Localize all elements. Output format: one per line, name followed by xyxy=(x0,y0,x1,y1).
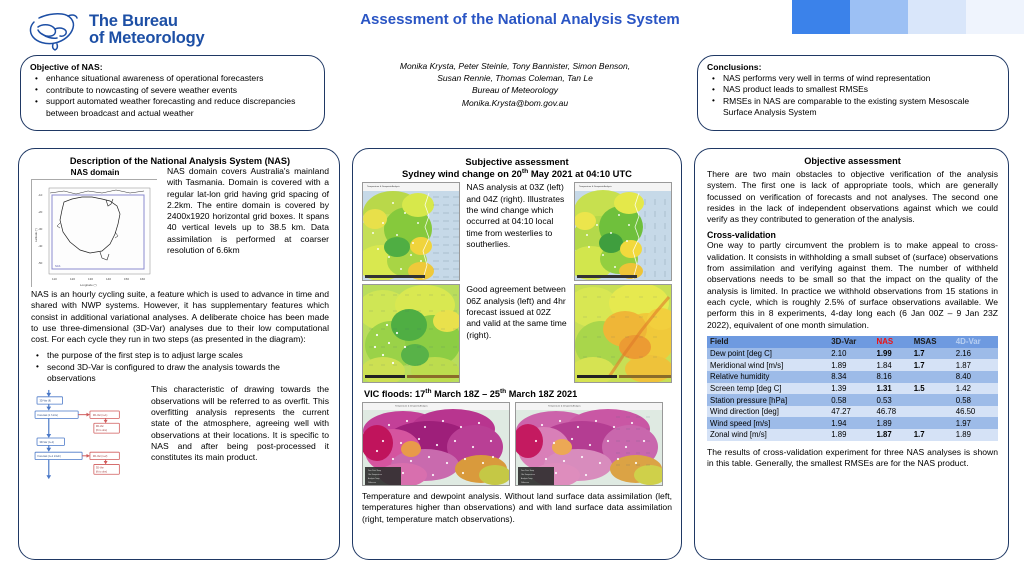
author-block: Monika Krysta, Peter Steinle, Tony Banni… xyxy=(345,60,685,109)
svg-text:Analysis Temp: Analysis Temp xyxy=(368,477,380,480)
sydney-analysis-03z-image: Temperature & Dewpoint Analysis xyxy=(362,182,460,281)
cell-field: Zonal wind [m/s] xyxy=(707,429,828,441)
table-row: Meridional wind [m/s]1.891.841.71.87 xyxy=(707,359,998,371)
table-row: Screen temp [deg C]1.391.311.51.42 xyxy=(707,383,998,395)
objective-heading: Objective of NAS: xyxy=(30,62,315,72)
th-msas: MSAS xyxy=(911,336,953,348)
svg-text:Difference: Difference xyxy=(368,482,376,484)
vic-title-mid: March 18Z – 25 xyxy=(432,389,500,399)
australia-domain-plot: NAS -10-20-30 -40-50 110120130 140150160… xyxy=(32,180,158,288)
svg-text:Dew Point Temp: Dew Point Temp xyxy=(368,469,381,472)
svg-text:(fit to obs): (fit to obs) xyxy=(96,471,107,474)
sydney-03z-svg: Temperature & Dewpoint Analysis xyxy=(363,183,460,281)
svg-text:-50: -50 xyxy=(38,261,43,265)
svg-text:Analysis Temp: Analysis Temp xyxy=(521,477,533,480)
rmse-table-wrap: Field 3D-Var NAS MSAS 4D-Var Dew point [… xyxy=(707,336,998,441)
cross-validation-heading: Cross-validation xyxy=(707,230,998,240)
sydney-analysis-04z-image: Temperature & Dewpoint Analysis xyxy=(574,182,672,281)
svg-text:Forecast (n+1 ints/n): Forecast (n+1 ints/n) xyxy=(38,455,61,458)
sydney-wind-subtitle: Sydney wind change on 20th May 2021 at 0… xyxy=(362,168,672,179)
author-line-2: Susan Rennie, Thomas Coleman, Tan Le xyxy=(345,72,685,84)
cell-field: Relative humidity xyxy=(707,371,828,383)
svg-text:140: 140 xyxy=(106,277,111,281)
svg-text:-30: -30 xyxy=(38,227,43,231)
cell-msas xyxy=(911,394,953,406)
cell-msas: 1.7 xyxy=(911,348,953,360)
color-swatch-strip xyxy=(792,0,1024,34)
cell-msas xyxy=(911,371,953,383)
cell-field: Screen temp [deg C] xyxy=(707,383,828,395)
th-4dvar: 4D-Var xyxy=(953,336,998,348)
sydney-04z-svg: Temperature & Dewpoint Analysis xyxy=(575,183,672,281)
svg-text:Latitude (°): Latitude (°) xyxy=(34,228,38,242)
cell-4dvar: 1.89 xyxy=(953,429,998,441)
cell-nas: 0.53 xyxy=(874,394,911,406)
cell-nas: 8.16 xyxy=(874,371,911,383)
cell-nas: 1.89 xyxy=(874,417,911,429)
obstacles-paragraph: There are two main obstacles to objectiv… xyxy=(707,169,998,225)
svg-text:3D-Var: 3D-Var xyxy=(96,467,104,470)
cell-field: Wind direction [deg] xyxy=(707,406,828,418)
cell-msas xyxy=(911,406,953,418)
svg-text:160: 160 xyxy=(140,277,145,281)
cell-3dvar: 1.89 xyxy=(828,429,873,441)
swatch-2 xyxy=(850,0,908,34)
svg-text:Obs Temperature: Obs Temperature xyxy=(368,473,382,476)
conclusions-item: NAS product leads to smallest RMSEs xyxy=(707,84,999,95)
cell-3dvar: 1.39 xyxy=(828,383,873,395)
table-header-row: Field 3D-Var NAS MSAS 4D-Var xyxy=(707,336,998,348)
analysis-06z-image xyxy=(362,284,460,383)
table-row: Station pressure [hPa]0.580.530.58 xyxy=(707,394,998,406)
description-title: Description of the National Analysis Sys… xyxy=(31,156,329,166)
objective-list: enhance situational awareness of operati… xyxy=(30,73,315,119)
logo-text: The Bureau of Meteorology xyxy=(89,13,204,48)
forecast-4hr-image xyxy=(574,284,672,383)
bom-logo: The Bureau of Meteorology xyxy=(24,8,204,52)
author-email: Monika.Krysta@bom.gov.au xyxy=(345,97,685,109)
th-field: Field xyxy=(707,336,828,348)
cell-3dvar: 2.10 xyxy=(828,348,873,360)
vic-row-2: Good agreement between 06Z analysis (lef… xyxy=(362,284,672,383)
swatch-4 xyxy=(966,0,1024,34)
svg-text:150: 150 xyxy=(124,277,129,281)
author-affiliation: Bureau of Meteorology xyxy=(345,84,685,96)
rmse-table: Field 3D-Var NAS MSAS 4D-Var Dew point [… xyxy=(707,336,998,441)
cell-3dvar: 8.34 xyxy=(828,371,873,383)
table-row: Zonal wind [m/s]1.891.871.71.89 xyxy=(707,429,998,441)
sydney-title-post: May 2021 at 04:10 UTC xyxy=(528,168,632,179)
svg-text:-10: -10 xyxy=(38,193,43,197)
logo-line-1: The Bureau xyxy=(89,13,204,30)
svg-text:Dew Point Temp: Dew Point Temp xyxy=(521,469,534,472)
th-nas: NAS xyxy=(874,336,911,348)
poster-canvas: The Bureau of Meteorology Assessment of … xyxy=(0,0,1024,576)
cell-4dvar: 2.16 xyxy=(953,348,998,360)
swatch-3 xyxy=(908,0,966,34)
svg-text:3D-Var (fl): 3D-Var (fl) xyxy=(39,400,51,403)
analysis-06z-svg xyxy=(363,285,460,383)
cell-4dvar: 1.87 xyxy=(953,359,998,371)
svg-text:Difference: Difference xyxy=(521,482,529,484)
objective-assessment-title: Objective assessment xyxy=(707,156,998,166)
cell-nas: 46.78 xyxy=(874,406,911,418)
sydney-row-1: Temperature & Dewpoint Analysis xyxy=(362,182,672,281)
cycle-step-item: the purpose of the first step is to adju… xyxy=(31,350,329,361)
cell-msas: 1.5 xyxy=(911,383,953,395)
cell-nas: 1.99 xyxy=(874,348,911,360)
vic-floods-title: VIC floods: 17th March 18Z – 25th March … xyxy=(364,388,672,399)
svg-text:-40: -40 xyxy=(38,244,43,248)
flood-with-lsda-svg: Temperature & Dewpoint Analysis xyxy=(516,403,663,486)
cell-4dvar: 1.42 xyxy=(953,383,998,395)
cell-4dvar: 0.58 xyxy=(953,394,998,406)
svg-text:NAS: NAS xyxy=(55,264,61,268)
forecast-4hr-svg xyxy=(575,285,672,383)
svg-text:3D-Var (n+1): 3D-Var (n+1) xyxy=(39,441,54,444)
cell-4dvar: 1.97 xyxy=(953,417,998,429)
objective-item: contribute to nowcasting of severe weath… xyxy=(30,85,315,97)
swatch-1 xyxy=(792,0,850,34)
cell-field: Meridional wind [m/s] xyxy=(707,359,828,371)
svg-text:110: 110 xyxy=(52,277,57,281)
cell-nas: 1.87 xyxy=(874,429,911,441)
cell-3dvar: 1.94 xyxy=(828,417,873,429)
flood-with-lsda-image: Temperature & Dewpoint Analysis xyxy=(515,402,663,486)
objective-box: Objective of NAS: enhance situational aw… xyxy=(20,55,325,131)
svg-text:Temperature & Dewpoint Analysi: Temperature & Dewpoint Analysis xyxy=(395,405,429,408)
conclusions-item: NAS performs very well in terms of wind … xyxy=(707,73,999,84)
table-row: Wind direction [deg]47.2746.7846.50 xyxy=(707,406,998,418)
cell-nas: 1.84 xyxy=(874,359,911,371)
results-paragraph: The results of cross-validation experime… xyxy=(707,447,998,470)
table-row: Relative humidity8.348.168.40 xyxy=(707,371,998,383)
cell-4dvar: 46.50 xyxy=(953,406,998,418)
objective-assessment-panel: Objective assessment There are two main … xyxy=(694,148,1009,560)
sydney-text-block: NAS analysis at 03Z (left) and 04Z (righ… xyxy=(466,182,567,250)
vic-title-pre: VIC floods: 17 xyxy=(364,389,425,399)
objective-item: enhance situational awareness of operati… xyxy=(30,73,315,85)
rmse-table-body: Dew point [deg C]2.101.991.72.16Meridion… xyxy=(707,348,998,441)
conclusions-heading: Conclusions: xyxy=(707,62,999,72)
cell-msas xyxy=(911,417,953,429)
table-row: Wind speed [m/s]1.941.891.97 xyxy=(707,417,998,429)
cell-field: Station pressure [hPa] xyxy=(707,394,828,406)
sydney-title-pre: Sydney wind change on 20 xyxy=(402,168,522,179)
svg-text:3D-Var (n+2): 3D-Var (n+2) xyxy=(93,455,108,458)
nas-cycle-flow-diagram: 3D-Var (fl) Forecast (1 h ints) 3D-Var (… xyxy=(33,388,141,486)
agreement-text-block: Good agreement between 06Z analysis (lef… xyxy=(466,284,567,341)
th-3dvar: 3D-Var xyxy=(828,336,873,348)
svg-text:(fit to obs): (fit to obs) xyxy=(96,429,107,432)
svg-text:Temperature & Dewpoint Analysi: Temperature & Dewpoint Analysis xyxy=(579,185,613,188)
nas-domain-caption: NAS domain xyxy=(31,168,159,177)
nas-domain-figure: NAS domain NAS -10-20-30 -40-50 xyxy=(31,168,159,287)
objective-item: support automated weather forecasting an… xyxy=(30,96,315,119)
cell-msas: 1.7 xyxy=(911,359,953,371)
conclusions-item: RMSEs in NAS are comparable to the exist… xyxy=(707,96,999,119)
conclusions-list: NAS performs very well in terms of wind … xyxy=(707,73,999,118)
svg-text:Temperature & Dewpoint Analysi: Temperature & Dewpoint Analysis xyxy=(548,405,582,408)
cross-validation-paragraph: One way to partly circumvent the problem… xyxy=(707,240,998,330)
logo-line-2: of Meteorology xyxy=(89,30,204,47)
nas-domain-map: NAS -10-20-30 -40-50 110120130 140150160… xyxy=(31,179,157,287)
svg-text:120: 120 xyxy=(70,277,75,281)
svg-text:3D-Var (n+1): 3D-Var (n+1) xyxy=(93,414,108,417)
flood-no-lsda-image: Temperature & Dewpoint Analysis xyxy=(362,402,510,486)
cycling-diagram: 3D-Var (fl) Forecast (1 h ints) 3D-Var (… xyxy=(33,388,145,491)
svg-text:130: 130 xyxy=(88,277,93,281)
cell-msas: 1.7 xyxy=(911,429,953,441)
subjective-assessment-panel: Subjective assessment Sydney wind change… xyxy=(352,148,682,560)
cell-3dvar: 47.27 xyxy=(828,406,873,418)
svg-text:Forecast (1 h ints): Forecast (1 h ints) xyxy=(38,414,59,417)
cell-field: Dew point [deg C] xyxy=(707,348,828,360)
conclusions-box: Conclusions: NAS performs very well in t… xyxy=(697,55,1009,131)
cell-field: Wind speed [m/s] xyxy=(707,417,828,429)
poster-title: Assessment of the National Analysis Syst… xyxy=(300,11,740,28)
flood-no-lsda-svg: Temperature & Dewpoint Analysis xyxy=(363,403,510,486)
cell-3dvar: 0.58 xyxy=(828,394,873,406)
subjective-title: Subjective assessment xyxy=(362,156,672,167)
cell-4dvar: 8.40 xyxy=(953,371,998,383)
cycling-paragraph: NAS is an hourly cycling suite, a featur… xyxy=(31,289,329,345)
svg-text:Longitude (°): Longitude (°) xyxy=(80,283,97,287)
sat-image-header: Temperature & Dewpoint Analysis xyxy=(367,185,401,188)
cell-3dvar: 1.89 xyxy=(828,359,873,371)
vic-title-post: March 18Z 2021 xyxy=(506,389,577,399)
svg-text:-20: -20 xyxy=(38,210,43,214)
cycle-steps-list: the purpose of the first step is to adju… xyxy=(31,350,329,384)
flood-image-row: Temperature & Dewpoint Analysis xyxy=(362,402,672,486)
author-line-1: Monika Krysta, Peter Steinle, Tony Banni… xyxy=(345,60,685,72)
description-panel: Description of the National Analysis Sys… xyxy=(18,148,340,560)
svg-text:3D-Var: 3D-Var xyxy=(96,426,104,429)
table-row: Dew point [deg C]2.101.991.72.16 xyxy=(707,348,998,360)
flood-caption: Temperature and dewpoint analysis. Witho… xyxy=(362,491,672,525)
svg-text:Obs Temperature: Obs Temperature xyxy=(521,473,535,476)
cycle-step-item: second 3D-Var is configured to draw the … xyxy=(31,362,329,385)
cell-nas: 1.31 xyxy=(874,383,911,395)
australia-map-icon xyxy=(24,8,82,52)
